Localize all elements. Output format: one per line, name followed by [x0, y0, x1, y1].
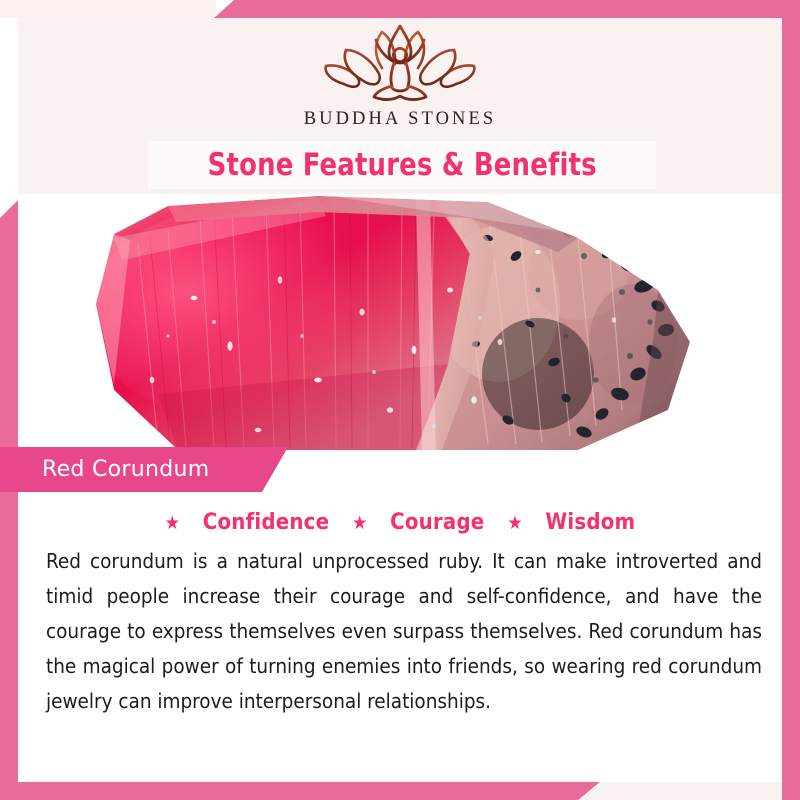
keyword-wisdom: Wisdom — [545, 510, 635, 535]
frame-bar-top — [214, 0, 800, 18]
stone-description: Red corundum is a natural unprocessed ru… — [46, 544, 762, 719]
stone-name-banner: Red Corundum — [0, 447, 288, 492]
brand-wordmark: BUDDHA STONES — [304, 109, 497, 130]
hero-image — [18, 194, 782, 450]
stone-name: Red Corundum — [42, 457, 209, 482]
page-title-box: Stone Features & Benefits — [148, 141, 656, 189]
keyword-courage: Courage — [390, 510, 484, 535]
star-icon: ★ — [352, 512, 367, 534]
benefit-keywords: ★ Confidence ★ Courage ★ Wisdom — [18, 510, 782, 535]
content-area: ★ Confidence ★ Courage ★ Wisdom Red coru… — [18, 492, 782, 782]
keyword-confidence: Confidence — [203, 510, 329, 535]
lotus-meditating-figure-icon — [318, 22, 482, 108]
header-background-corner-fill — [0, 0, 216, 18]
infographic-card: BUDDHA STONES Stone Features & Benefits — [0, 0, 800, 800]
brand-logo-block: BUDDHA STONES — [0, 22, 800, 140]
star-icon: ★ — [507, 512, 522, 534]
frame-bar-bottom — [0, 782, 600, 800]
frame-bar-left-upper — [0, 200, 18, 482]
frame-bar-left-lower — [0, 482, 18, 800]
star-icon: ★ — [165, 512, 180, 534]
page-title: Stone Features & Benefits — [207, 147, 596, 183]
red-corundum-photo-illustration — [18, 194, 782, 450]
